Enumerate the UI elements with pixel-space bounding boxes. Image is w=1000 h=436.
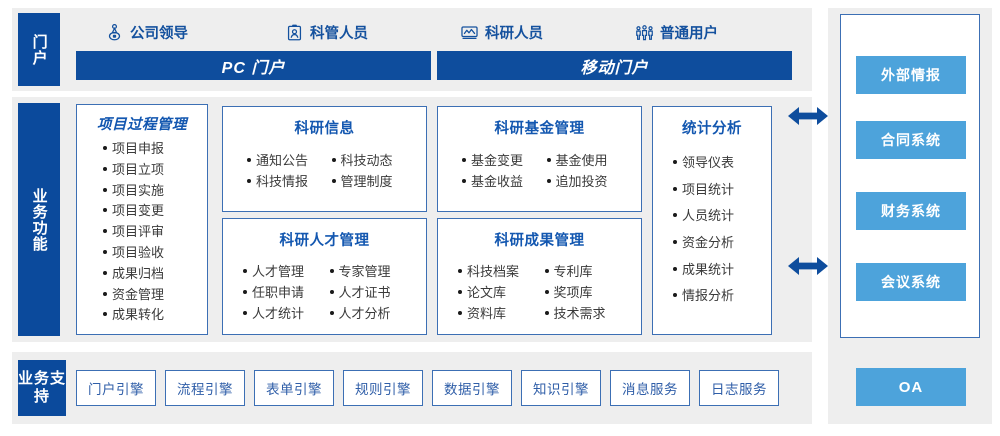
list-item[interactable]: 论文库 (458, 283, 545, 304)
list-item[interactable]: 成果转化 (103, 305, 164, 326)
engine-chip-label: 知识引擎 (533, 378, 589, 398)
engine-chip-label: 流程引擎 (177, 378, 233, 398)
portal-role-leader[interactable]: 公司领导 (105, 22, 285, 43)
card-title: 科研成果管理 (448, 229, 631, 250)
architecture-diagram: 门户 公司领导 科 (0, 0, 1000, 436)
external-system-label: 财务系统 (881, 201, 941, 221)
support-section-label-text: 业务支持 (18, 370, 66, 407)
card-title: 科研基金管理 (448, 117, 631, 138)
portal-section-label: 门户 (18, 13, 60, 86)
list-item[interactable]: 基金使用 (547, 151, 632, 172)
list-item[interactable]: 项目申报 (103, 139, 164, 160)
card-project-process-management[interactable]: 项目过程管理 项目申报 项目立项 项目实施 项目变更 项目评审 项目验收 成果归… (76, 104, 208, 335)
portal-button-mobile-label: 移动门户 (580, 54, 648, 78)
list-item[interactable]: 项目统计 (673, 177, 734, 204)
list-item[interactable]: 追加投资 (547, 172, 632, 193)
card-research-information[interactable]: 科研信息 通知公告 科技动态 科技情报 管理制度 (222, 106, 427, 212)
card-title: 统计分析 (659, 117, 765, 138)
engine-chip-label: 消息服务 (622, 378, 678, 398)
card-research-achievement-management[interactable]: 科研成果管理 科技档案 专利库 论文库 奖项库 资料库 技术需求 (437, 218, 642, 335)
list-item[interactable]: 基金收益 (462, 172, 547, 193)
portal-button-pc[interactable]: PC 门户 (76, 51, 431, 80)
portal-role-common-user-label: 普通用户 (660, 22, 718, 43)
engine-chip-label: 门户引擎 (88, 378, 144, 398)
list-item[interactable]: 奖项库 (545, 283, 632, 304)
external-system-finance[interactable]: 财务系统 (856, 192, 966, 230)
id-badge-person-icon (285, 23, 304, 42)
list-item[interactable]: 科技动态 (332, 151, 417, 172)
portal-button-mobile[interactable]: 移动门户 (437, 51, 792, 80)
portal-role-researcher-label: 科研人员 (485, 22, 543, 43)
list-item[interactable]: 通知公告 (247, 151, 332, 172)
card-item-list: 人才管理 专家管理 任职申请 人才证书 人才统计 人才分析 (233, 262, 416, 324)
card-research-talent-management[interactable]: 科研人才管理 人才管理 专家管理 任职申请 人才证书 人才统计 人才分析 (222, 218, 427, 335)
sync-arrow-top (786, 103, 830, 129)
engine-chip-portal[interactable]: 门户引擎 (76, 370, 156, 406)
double-arrow-horizontal-icon (786, 103, 830, 129)
card-item-list: 项目申报 项目立项 项目实施 项目变更 项目评审 项目验收 成果归档 资金管理 … (103, 139, 201, 326)
list-item[interactable]: 技术需求 (545, 304, 632, 325)
list-item[interactable]: 科技情报 (247, 172, 332, 193)
external-system-label: 会议系统 (881, 272, 941, 292)
business-section-label: 业务功能 (18, 103, 60, 336)
external-system-label: 合同系统 (881, 130, 941, 150)
engine-chip-knowledge[interactable]: 知识引擎 (521, 370, 601, 406)
list-item[interactable]: 项目验收 (103, 243, 164, 264)
engine-chip-log-service[interactable]: 日志服务 (699, 370, 779, 406)
card-title: 项目过程管理 (83, 113, 201, 134)
chart-monitor-icon (460, 23, 479, 42)
portal-role-researcher[interactable]: 科研人员 (460, 22, 635, 43)
engine-chip-label: 数据引擎 (444, 378, 500, 398)
card-statistical-analysis[interactable]: 统计分析 领导仪表 项目统计 人员统计 资金分析 成果统计 情报分析 (652, 106, 772, 335)
list-item[interactable]: 项目评审 (103, 222, 164, 243)
portal-section-label-text: 门户 (29, 34, 48, 66)
list-item[interactable]: 资金管理 (103, 285, 164, 306)
card-title: 科研信息 (233, 117, 416, 138)
engine-chip-message-service[interactable]: 消息服务 (610, 370, 690, 406)
list-item[interactable]: 专利库 (545, 262, 632, 283)
leader-person-icon (105, 23, 124, 42)
list-item[interactable]: 人才统计 (243, 304, 330, 325)
list-item[interactable]: 成果统计 (673, 257, 734, 284)
card-item-list: 领导仪表 项目统计 人员统计 资金分析 成果统计 情报分析 (673, 150, 765, 310)
external-system-oa[interactable]: OA (856, 368, 966, 406)
list-item[interactable]: 成果归档 (103, 264, 164, 285)
card-title: 科研人才管理 (233, 229, 416, 250)
list-item[interactable]: 任职申请 (243, 283, 330, 304)
business-section-label-text: 业务功能 (29, 188, 48, 252)
engine-chip-rule[interactable]: 规则引擎 (343, 370, 423, 406)
external-system-meeting[interactable]: 会议系统 (856, 263, 966, 301)
people-group-icon (635, 23, 654, 42)
card-item-list: 通知公告 科技动态 科技情报 管理制度 (233, 151, 416, 193)
list-item[interactable]: 人才证书 (330, 283, 417, 304)
engine-chip-data[interactable]: 数据引擎 (432, 370, 512, 406)
list-item[interactable]: 项目实施 (103, 181, 164, 202)
portal-role-leader-label: 公司领导 (130, 22, 188, 43)
portal-button-pc-label: PC 门户 (222, 54, 286, 78)
portal-role-admin[interactable]: 科管人员 (285, 22, 460, 43)
list-item[interactable]: 人才管理 (243, 262, 330, 283)
engine-chip-form[interactable]: 表单引擎 (254, 370, 334, 406)
card-research-fund-management[interactable]: 科研基金管理 基金变更 基金使用 基金收益 追加投资 (437, 106, 642, 212)
double-arrow-horizontal-icon (786, 253, 830, 279)
portal-role-common-user[interactable]: 普通用户 (635, 22, 718, 43)
engine-chip-label: 日志服务 (711, 378, 767, 398)
list-item[interactable]: 项目立项 (103, 160, 164, 181)
external-system-intelligence[interactable]: 外部情报 (856, 56, 966, 94)
engine-chip-process[interactable]: 流程引擎 (165, 370, 245, 406)
list-item[interactable]: 人才分析 (330, 304, 417, 325)
external-system-label: 外部情报 (881, 65, 941, 85)
list-item[interactable]: 资料库 (458, 304, 545, 325)
external-system-oa-label: OA (899, 379, 924, 396)
list-item[interactable]: 人员统计 (673, 203, 734, 230)
support-section-label: 业务支持 (18, 360, 66, 416)
list-item[interactable]: 资金分析 (673, 230, 734, 257)
engine-chip-label: 规则引擎 (355, 378, 411, 398)
list-item[interactable]: 情报分析 (673, 283, 734, 310)
external-system-contract[interactable]: 合同系统 (856, 121, 966, 159)
sync-arrow-bottom (786, 253, 830, 279)
list-item[interactable]: 管理制度 (332, 172, 417, 193)
list-item[interactable]: 科技档案 (458, 262, 545, 283)
list-item[interactable]: 专家管理 (330, 262, 417, 283)
engine-chip-label: 表单引擎 (266, 378, 322, 398)
list-item[interactable]: 基金变更 (462, 151, 547, 172)
card-item-list: 基金变更 基金使用 基金收益 追加投资 (448, 151, 631, 193)
portal-roles: 公司领导 科管人员 科研人员 (105, 18, 795, 46)
list-item[interactable]: 领导仪表 (673, 150, 734, 177)
list-item[interactable]: 项目变更 (103, 201, 164, 222)
portal-role-admin-label: 科管人员 (310, 22, 368, 43)
card-item-list: 科技档案 专利库 论文库 奖项库 资料库 技术需求 (448, 262, 631, 324)
